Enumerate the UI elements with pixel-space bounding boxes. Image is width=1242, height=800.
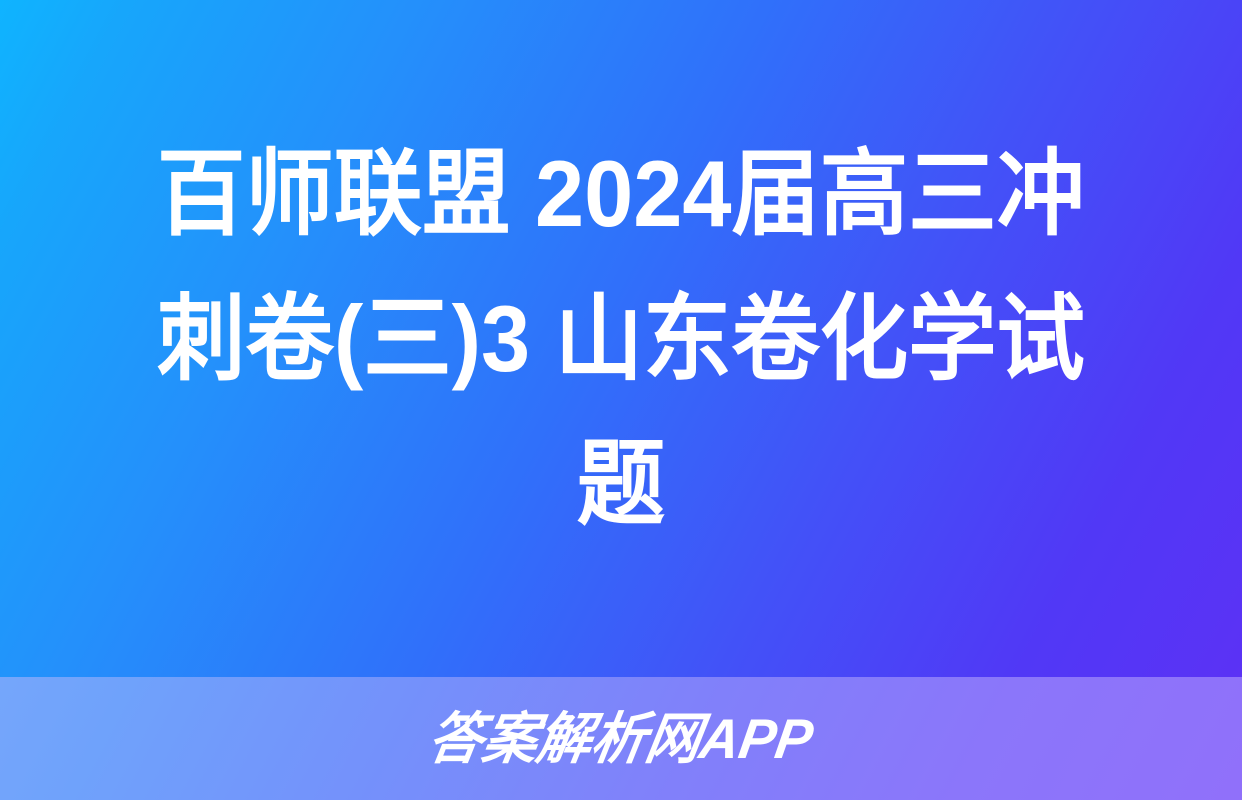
footer-band: 答案解析网APP [0,677,1242,800]
title-line-2: 刺卷(三)3 山东卷化学试 [103,266,1139,411]
page-title: 百师联盟 2024届高三冲 刺卷(三)3 山东卷化学试 题 [103,121,1139,556]
title-line-3: 题 [103,411,1139,556]
title-line-1: 百师联盟 2024届高三冲 [103,121,1139,266]
poster-root: 百师联盟 2024届高三冲 刺卷(三)3 山东卷化学试 题 答案解析网APP [0,0,1242,800]
hero-banner: 百师联盟 2024届高三冲 刺卷(三)3 山东卷化学试 题 [0,0,1242,677]
app-wordmark: 答案解析网APP [425,711,817,767]
